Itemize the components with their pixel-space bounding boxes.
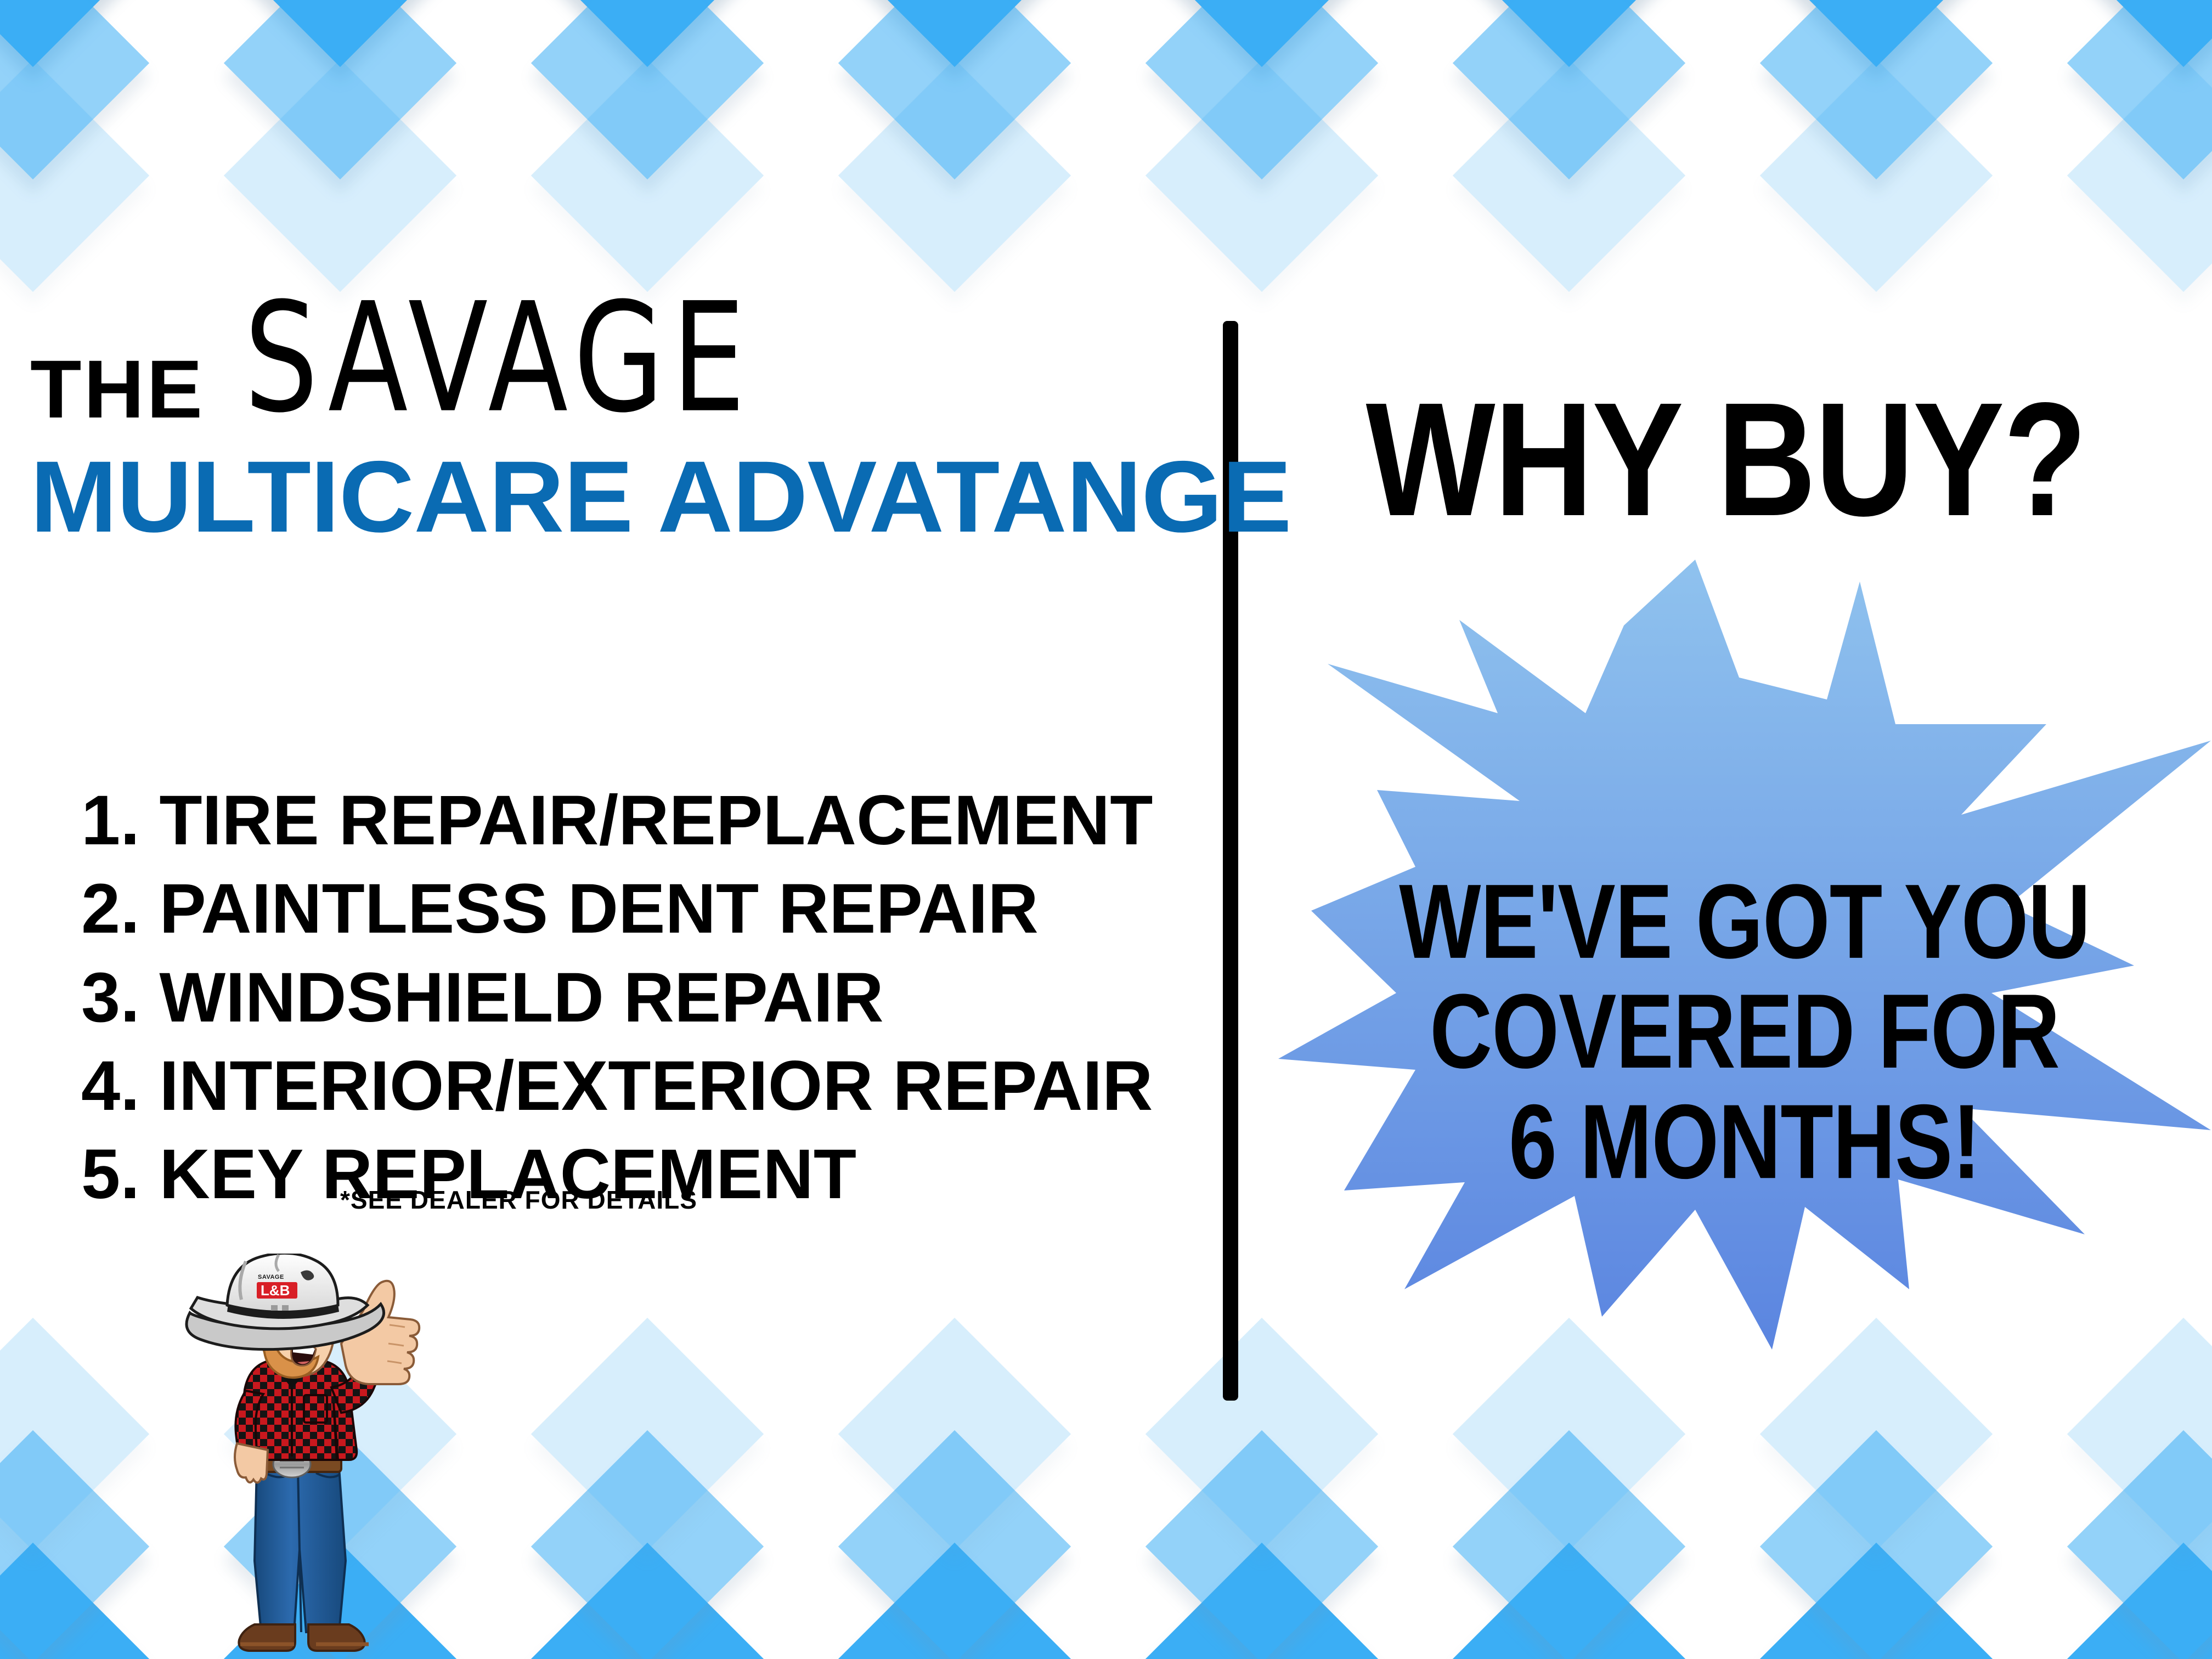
mascot-boots (239, 1624, 369, 1651)
page-title-savage: SAVAGE (244, 283, 753, 433)
title-block: THE SAVAGE MULTICARE ADVATANGE (30, 315, 1177, 548)
why-buy-headline: WHY BUY? (1240, 379, 2212, 540)
starburst-text: WE'VE GOT YOU COVERED FOR 6 MONTHS! (1278, 867, 2211, 1197)
left-panel: THE SAVAGE MULTICARE ADVATANGE 1. TIRE R… (0, 0, 1207, 1659)
page-subtitle: MULTICARE ADVATANGE (30, 447, 1211, 548)
mascot-cowboy-illustration: SAVAGE L&B (174, 1254, 432, 1659)
list-item: 4. INTERIOR/EXTERIOR REPAIR (81, 1042, 1178, 1130)
list-item: 1. TIRE REPAIR/REPLACEMENT (81, 776, 1178, 865)
title-row: THE SAVAGE (30, 315, 1177, 433)
page-title-the: THE (30, 348, 205, 433)
starburst-line-1: WE'VE GOT YOU (1278, 867, 2211, 977)
service-list: 1. TIRE REPAIR/REPLACEMENT 2. PAINTLESS … (81, 776, 1178, 1218)
hat-logo-savage-text: SAVAGE (258, 1274, 284, 1280)
starburst-line-3: 6 MONTHS! (1278, 1087, 2211, 1197)
right-panel: WHY BUY? WE'VE GOT YOU COVERED FOR 6 MON… (1240, 0, 2212, 1659)
mascot-jeans (255, 1468, 346, 1632)
list-item: 3. WINDSHIELD REPAIR (81, 953, 1178, 1042)
promo-poster: THE SAVAGE MULTICARE ADVATANGE 1. TIRE R… (0, 0, 2212, 1659)
mascot-cowboy-hat: SAVAGE L&B (187, 1254, 384, 1350)
list-item: 2. PAINTLESS DENT REPAIR (81, 865, 1178, 953)
starburst-line-2: COVERED FOR (1278, 977, 2211, 1086)
hat-logo-lb-text: L&B (261, 1282, 290, 1299)
disclaimer-text: *SEE DEALER FOR DETAILS (340, 1185, 697, 1215)
mascot-left-hand (235, 1443, 268, 1483)
starburst-badge: WE'VE GOT YOU COVERED FOR 6 MONTHS! (1278, 560, 2211, 1350)
